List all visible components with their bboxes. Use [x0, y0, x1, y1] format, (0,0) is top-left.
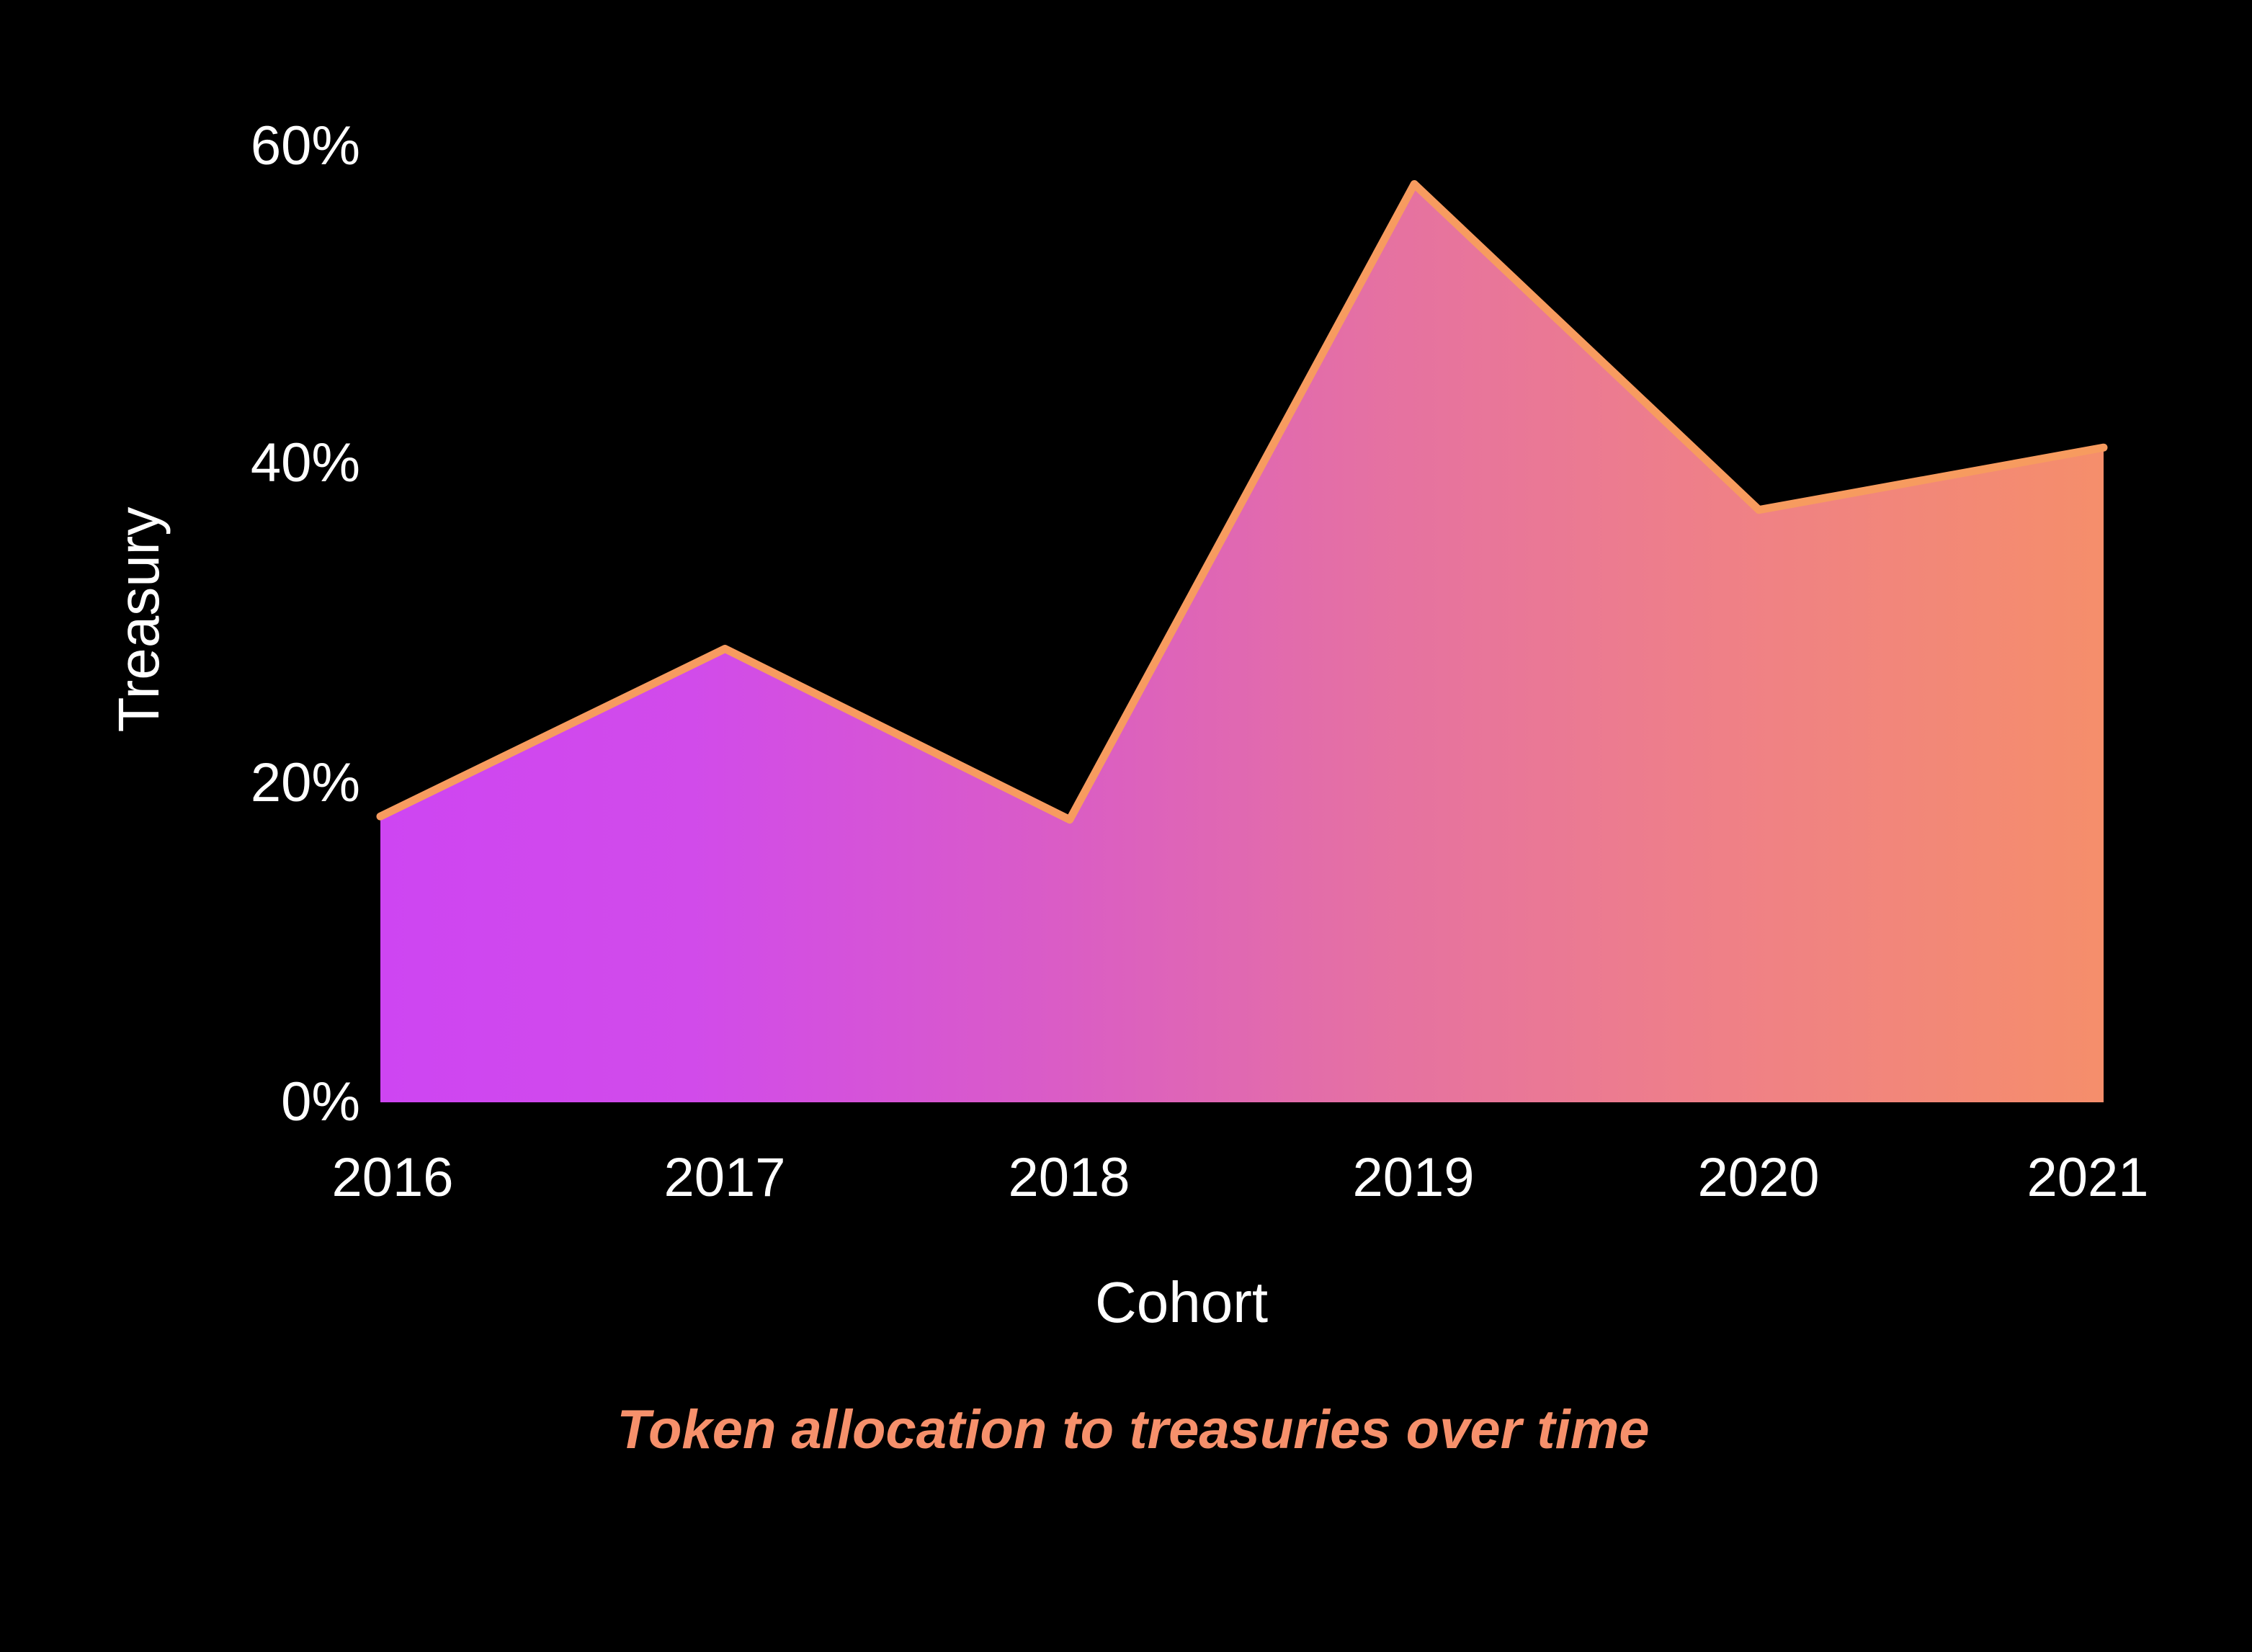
- chart-figure: 60% 40% 20% 0% 2016 2017 2018 2019 2020 …: [0, 0, 2252, 1652]
- x-tick-label-2020: 2020: [1697, 1147, 1819, 1208]
- x-tick-label-2017: 2017: [663, 1147, 785, 1208]
- y-tick-label-0: 0%: [281, 1071, 360, 1133]
- x-tick-label-2019: 2019: [1352, 1147, 1474, 1208]
- x-tick-label-2021: 2021: [2027, 1147, 2148, 1208]
- chart-caption: Token allocation to treasuries over time: [617, 1399, 1649, 1460]
- x-tick-label-2018: 2018: [1008, 1147, 1130, 1208]
- y-tick-label-40: 40%: [251, 432, 360, 494]
- area-chart-canvas: 60% 40% 20% 0% 2016 2017 2018 2019 2020 …: [0, 0, 2252, 1652]
- x-axis-title: Cohort: [1095, 1270, 1268, 1334]
- y-tick-label-20: 20%: [251, 752, 360, 813]
- y-tick-label-60: 60%: [251, 115, 360, 177]
- x-tick-label-2016: 2016: [331, 1147, 453, 1208]
- y-axis-title: Treasury: [107, 507, 171, 733]
